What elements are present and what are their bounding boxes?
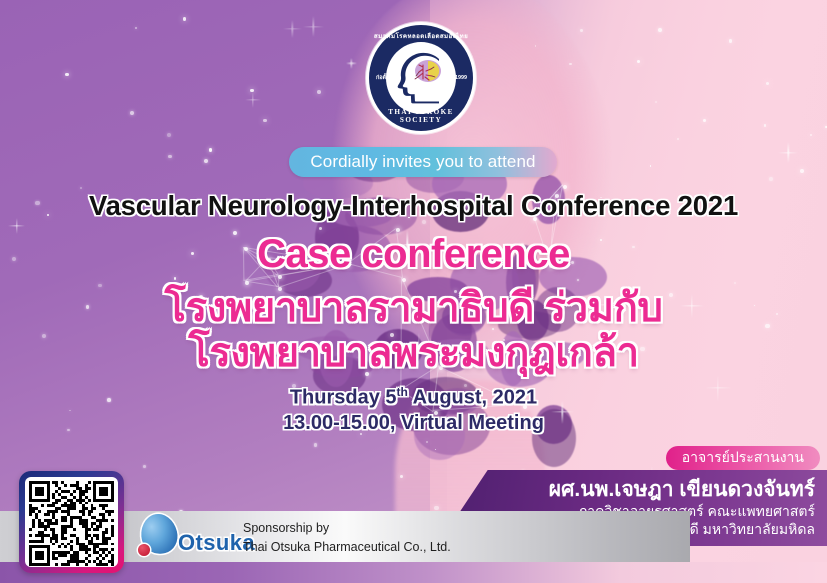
coordinator-name: ผศ.นพ.เจษฎา เขียนดวงจันทร์: [549, 478, 815, 502]
seal-year-right: 1999: [455, 75, 467, 81]
case-conference-heading: Case conference: [0, 232, 827, 277]
cordial-invitation-badge: Cordially invites you to attend: [289, 147, 557, 177]
event-date: Thursday 5th August, 2021: [0, 385, 827, 410]
sponsor-line-2: Thai Otsuka Pharmaceutical Co., Ltd.: [243, 538, 451, 557]
invitation-label: Cordially invites you to attend: [310, 152, 535, 172]
qr-code-modules: [29, 481, 114, 563]
coordinator-badge: อาจารย์ประสานงาน: [666, 446, 820, 470]
event-date-ordinal: th: [397, 385, 408, 399]
event-date-rest: August, 2021: [408, 387, 537, 409]
sponsor-line-1: Sponsorship by: [243, 519, 451, 538]
bottom-gradient-strip: [0, 562, 827, 583]
qr-code-inner: [25, 477, 118, 567]
sponsor-text: Sponsorship by Thai Otsuka Pharmaceutica…: [243, 519, 451, 558]
thai-stroke-society-logo: สมาคมโรคหลอดเลือดสมองไทย ก่อตั้ง 1999 TH…: [366, 22, 476, 134]
head-profile-brain-icon: [395, 51, 447, 107]
registration-qr-code[interactable]: [19, 471, 124, 573]
otsuka-red-dot-icon: [138, 544, 150, 556]
seal-inner-disc: [386, 42, 456, 114]
event-time-mode: 13.00-15.00, Virtual Meeting: [0, 412, 827, 435]
otsuka-logo: Otsuka: [136, 508, 240, 560]
hospital-line-2: โรงพยาบาลพระมงกุฎเกล้า: [0, 320, 827, 384]
seal-thai-arc-text: สมาคมโรคหลอดเลือดสมองไทย: [369, 31, 473, 41]
event-date-day: Thursday 5: [290, 387, 397, 409]
coordinator-badge-label: อาจารย์ประสานงาน: [682, 447, 804, 469]
conference-poster: สมาคมโรคหลอดเลือดสมองไทย ก่อตั้ง 1999 TH…: [0, 0, 827, 583]
seal-ring: สมาคมโรคหลอดเลือดสมองไทย ก่อตั้ง 1999 TH…: [369, 25, 473, 131]
conference-title: Vascular Neurology-Interhospital Confere…: [0, 190, 827, 222]
